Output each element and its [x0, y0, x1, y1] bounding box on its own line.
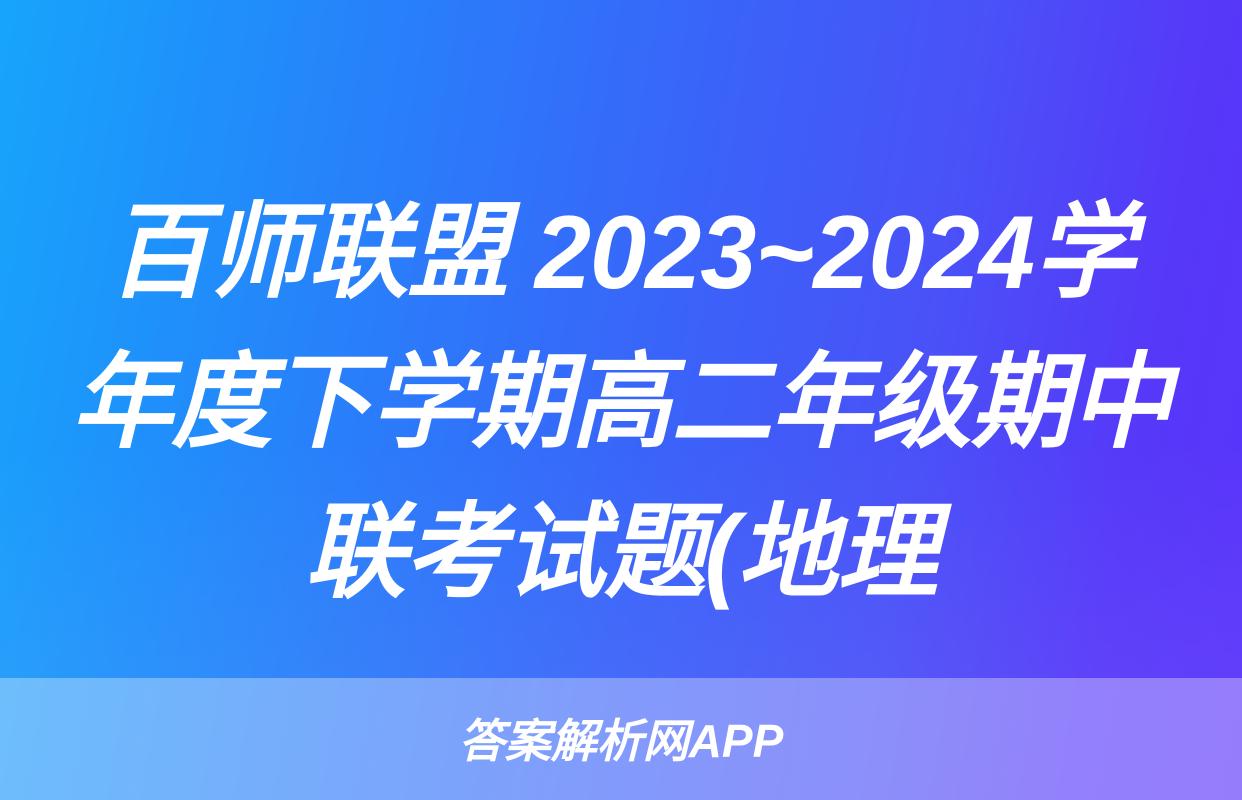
- footer-band: 答案解析网APP: [0, 678, 1242, 800]
- title-line-3: 联考试题(地理: [19, 478, 1224, 628]
- page-title: 百师联盟 2023~2024学 年度下学期高二年级期中 联考试题(地理: [0, 178, 1242, 628]
- title-line-2: 年度下学期高二年级期中: [19, 328, 1224, 478]
- title-line-1: 百师联盟 2023~2024学: [19, 178, 1224, 328]
- poster-canvas: 百师联盟 2023~2024学 年度下学期高二年级期中 联考试题(地理 答案解析…: [0, 0, 1242, 800]
- watermark-brand-label: 答案解析网APP: [459, 718, 784, 764]
